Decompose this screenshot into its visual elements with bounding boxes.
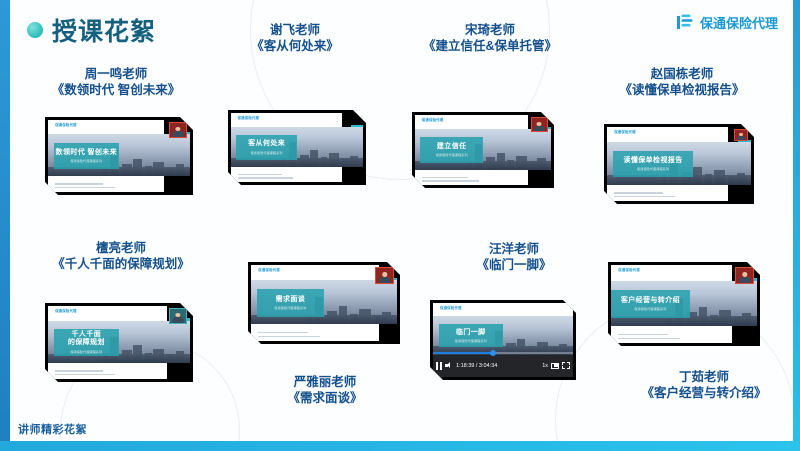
slide-banner-sub-1: 保通保险代理课程系列 [251, 151, 283, 155]
footer-accent-bar [0, 441, 800, 451]
video-control-bar[interactable]: 1:18:39 / 3:04:34 1x [433, 355, 573, 377]
caption-teacher-7: 丁茹老师 《客户经营与转介绍》 [612, 369, 796, 401]
caption-teacher-1: 谢飞老师 《客从何处来》 [205, 22, 385, 54]
slide-banner-7: 客户经营与转介绍 保通保险代理课程系列 [611, 290, 690, 318]
teacher-name-6: 汪洋老师 [489, 242, 539, 256]
presenter-inset-7 [735, 267, 754, 284]
slide-banner-title-0: 数领时代 智创未来 [56, 149, 118, 157]
pause-icon[interactable] [436, 362, 442, 370]
slide-logo-0: 保通保险代理 [55, 122, 77, 127]
course-name-5: 《需求面谈》 [240, 390, 410, 406]
slide-banner-4: 千人千面 的保障规划 保通保险代理课程系列 [54, 329, 119, 355]
slide-logo-5: 保通保险代理 [258, 267, 280, 272]
teacher-name-0: 周一鸣老师 [85, 67, 148, 81]
slide-banner-sub-6: 保通保险代理课程系列 [455, 339, 487, 343]
presenter-inset-5 [375, 267, 394, 284]
caption-teacher-5: 严雅丽老师 《需求面谈》 [240, 374, 410, 406]
thumbnail-7[interactable]: 保通保险代理 客户经营与转介绍 保通保险代理课程系列 [608, 262, 760, 346]
slide-preview-3: 保通保险代理 读懂保单检视报告 保通保险代理课程系列 [607, 127, 751, 201]
thumbnail-4[interactable]: 保通保险代理 千人千面 的保障规划 保通保险代理课程系列 [45, 303, 193, 382]
slide-banner-title-5: 需求面谈 [276, 296, 306, 304]
slide-preview-0: 保通保险代理 数领时代 智创未来 保通保险代理课程系列 [48, 120, 190, 192]
page-title: 授课花絮 [27, 12, 156, 48]
caption-teacher-6: 汪洋老师 《临门一脚》 [434, 241, 594, 273]
slide-banner-sub-2: 保通保险代理课程系列 [436, 153, 468, 157]
presenter-inset-4 [169, 308, 187, 324]
presenter-inset-3 [734, 129, 748, 141]
slide-preview-5: 保通保险代理 需求面谈 保通保险代理课程系列 [251, 265, 397, 341]
fullscreen-icon[interactable] [562, 362, 570, 369]
video-player-6: 保通保险代理 临门一脚 保通保险代理课程系列 1:18:39 [433, 303, 573, 377]
slide-banner-title-2: 建立信任 [437, 143, 467, 151]
course-name-0: 《数领时代 智创未来》 [10, 82, 222, 98]
slide-logo-4: 保通保险代理 [55, 308, 77, 313]
thumbnail-1[interactable]: 保通保险代理 客从何处来 保通保险代理课程系列 [228, 110, 366, 185]
slide-banner-5: 需求面谈 保通保险代理课程系列 [257, 289, 324, 316]
brand-b-mark-icon [677, 14, 696, 31]
caption-teacher-4: 檀亮老师 《千人千面的保障规划》 [26, 240, 216, 272]
left-accent-rail [0, 0, 10, 451]
slide-banner-title-7: 客户经营与转介绍 [621, 297, 680, 305]
course-name-7: 《客户经营与转介绍》 [612, 385, 796, 401]
video-progress-bar[interactable] [433, 352, 573, 355]
slide-logo-2: 保通保险代理 [422, 117, 444, 122]
teacher-name-1: 谢飞老师 [270, 23, 320, 37]
thumbnail-2[interactable]: 保通保险代理 建立信任 保通保险代理课程系列 [412, 112, 554, 188]
video-time-display: 1:18:39 / 3:04:34 [456, 363, 497, 369]
slide-logo-6: 保通保险代理 [440, 305, 462, 310]
teacher-name-3: 赵国栋老师 [651, 67, 714, 81]
brand-logo: 保通保险代理 [677, 13, 778, 32]
picture-in-picture-icon[interactable] [551, 363, 559, 369]
slide-banner-3: 读懂保单检视报告 保通保险代理课程系列 [613, 151, 694, 178]
caption-teacher-2: 宋琦老师 《建立信任&保单托管》 [392, 22, 588, 54]
teacher-name-5: 严雅丽老师 [294, 375, 357, 389]
footer-label: 讲师精彩花絮 [18, 421, 87, 437]
presenter-inset-0 [169, 122, 187, 138]
slide-banner-title-3: 读懂保单检视报告 [623, 157, 682, 165]
teacher-name-4: 檀亮老师 [96, 241, 146, 255]
thumbnail-5[interactable]: 保通保险代理 需求面谈 保通保险代理课程系列 [248, 262, 400, 344]
thumbnail-6-video[interactable]: 保通保险代理 临门一脚 保通保险代理课程系列 1:18:39 [430, 300, 576, 380]
video-progress-knob[interactable] [490, 350, 496, 356]
teacher-name-2: 宋琦老师 [465, 23, 515, 37]
bullet-dot-icon [27, 22, 43, 38]
slide-preview-4: 保通保险代理 千人千面 的保障规划 保通保险代理课程系列 [48, 306, 190, 379]
course-name-4: 《千人千面的保障规划》 [26, 256, 216, 272]
slide-preview-2: 保通保险代理 建立信任 保通保险代理课程系列 [415, 115, 551, 185]
course-name-3: 《读懂保单检视报告》 [582, 82, 782, 98]
presenter-inset-2 [531, 117, 549, 132]
caption-teacher-3: 赵国栋老师 《读懂保单检视报告》 [582, 66, 782, 98]
slide-banner-2: 建立信任 保通保险代理课程系列 [420, 137, 483, 162]
brand-name: 保通保险代理 [700, 13, 778, 32]
slide-banner-0: 数领时代 智创未来 保通保险代理课程系列 [54, 143, 119, 169]
playback-speed-button[interactable]: 1x [542, 363, 548, 369]
course-name-2: 《建立信任&保单托管》 [392, 38, 588, 54]
right-accent-rail [793, 0, 800, 451]
course-name-1: 《客从何处来》 [205, 38, 385, 54]
slide-banner-sub-5: 保通保险代理课程系列 [274, 306, 306, 310]
volume-icon[interactable] [445, 362, 453, 369]
video-progress-fill [433, 352, 493, 355]
slide-banner-6: 临门一脚 保通保险代理课程系列 [439, 324, 503, 348]
slide-banner-sub-0: 保通保险代理课程系列 [70, 159, 102, 163]
slide-banner-sub-7: 保通保险代理课程系列 [634, 307, 666, 311]
slide-logo-3: 保通保险代理 [614, 129, 636, 134]
slide-banner-title-6: 临门一脚 [456, 329, 486, 337]
slide-banner-1: 客从何处来 保通保险代理课程系列 [236, 135, 297, 160]
thumbnail-0[interactable]: 保通保险代理 数领时代 智创未来 保通保险代理课程系列 [45, 117, 193, 195]
slide-logo-7: 保通保险代理 [618, 267, 640, 272]
slide-preview-1: 保通保险代理 客从何处来 保通保险代理课程系列 [231, 113, 363, 182]
slide-banner-title-4: 千人千面 的保障规划 [68, 331, 105, 347]
caption-teacher-0: 周一鸣老师 《数领时代 智创未来》 [10, 66, 222, 98]
slide-banner-sub-3: 保通保险代理课程系列 [637, 167, 669, 171]
slide-banner-sub-4: 保通保险代理课程系列 [70, 350, 102, 354]
slide-preview-7: 保通保险代理 客户经营与转介绍 保通保险代理课程系列 [611, 265, 757, 343]
slide-banner-title-1: 客从何处来 [248, 140, 285, 148]
course-name-6: 《临门一脚》 [434, 257, 594, 273]
teacher-name-7: 丁茹老师 [679, 370, 729, 384]
presentation-slide: 讲师精彩花絮 授课花絮 保通保险代理 周一鸣老师 《数领时代 智创未来》 谢飞老… [0, 0, 800, 451]
slide-logo-1: 保通保险代理 [238, 115, 260, 120]
thumbnail-3[interactable]: 保通保险代理 读懂保单检视报告 保通保险代理课程系列 [604, 124, 754, 204]
page-title-text: 授课花絮 [52, 12, 156, 48]
